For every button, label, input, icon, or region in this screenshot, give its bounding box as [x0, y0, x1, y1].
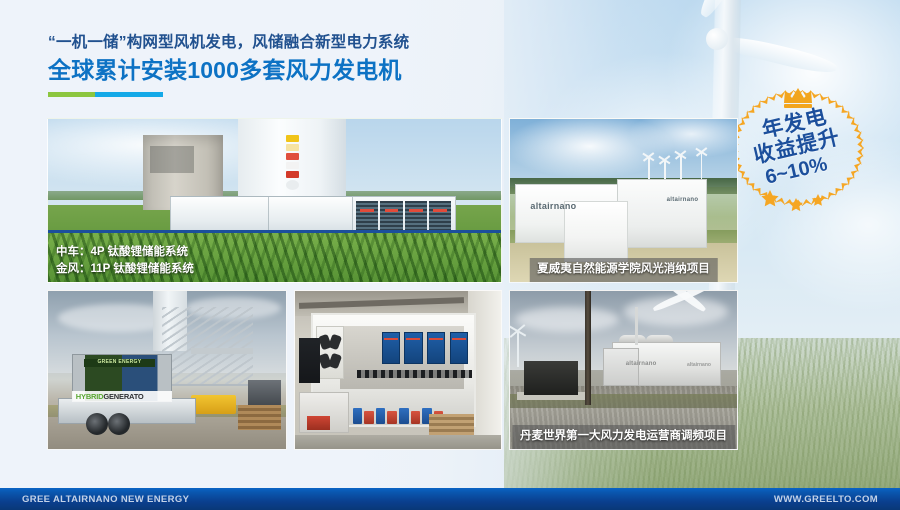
photo1-caption-line-2: 金风：11P 钛酸锂储能系统	[56, 261, 194, 278]
footer-bar: GREE ALTAIRNANO NEW ENERGY WWW.GREELTO.C…	[0, 488, 900, 510]
slide-root: “一机一储”构网型风机发电，风储融合新型电力系统 全球累计安装1000多套风力发…	[0, 0, 900, 510]
photo-hawaii[interactable]: altairnano altairnano 夏威夷自然能源学院风光消纳项目	[509, 118, 738, 283]
photo-hybrid-generator[interactable]: GREEN ENERGY HYBRIDGENERATO	[47, 290, 287, 450]
photo3-wooden-pallet	[238, 405, 281, 430]
photo3-banner-text: GREEN ENERGY	[84, 359, 155, 367]
photo4-wooden-pallet	[429, 414, 474, 436]
photo-grid-row-2: GREEN ENERGY HYBRIDGENERATO	[47, 290, 502, 450]
title-accent-bar	[48, 92, 163, 97]
accent-segment-green	[48, 92, 95, 97]
crown-icon	[784, 88, 812, 108]
photo4-red-sockets	[307, 416, 330, 430]
photo5-roof-vent	[646, 335, 673, 341]
footer-company-name: GREE ALTAIRNANO NEW ENERGY	[22, 494, 189, 505]
photo-cabinet-interior[interactable]	[294, 290, 502, 450]
footer-website[interactable]: WWW.GREELTO.COM	[774, 494, 878, 505]
photo5-wind-turbine	[517, 332, 519, 367]
photo4-cabinet-interior-panel	[340, 326, 464, 389]
photo2-caption: 夏威夷自然能源学院风光消纳项目	[529, 258, 718, 282]
photo1-warning-signs	[286, 135, 299, 192]
photo4-inverter-module	[382, 332, 401, 364]
photo3-skip-bin	[248, 380, 281, 405]
annual-yield-badge: 年发电 收益提升 6~10%	[718, 82, 878, 212]
photo1-caption: 中车：4P 钛酸锂储能系统 金风：11P 钛酸锂储能系统	[48, 241, 202, 283]
photo4-inverter-module	[404, 332, 423, 364]
photo3-trailer-wheel	[108, 413, 130, 435]
photo5-caption: 丹麦世界第一大风力发电运营商调频项目	[512, 425, 735, 449]
slide-header: “一机一储”构网型风机发电，风储融合新型电力系统 全球累计安装1000多套风力发…	[48, 34, 409, 97]
photo2-brand-text-small: altairnano	[667, 197, 699, 203]
accent-segment-blue	[95, 92, 163, 97]
photo3-hybrid-label-text: HYBRIDGENERATO	[72, 392, 144, 401]
photo2-brand-text: altairnano	[530, 201, 576, 211]
photo3-staircase	[162, 307, 252, 386]
photo4-monitor	[299, 338, 320, 382]
slide-subtitle: “一机一储”构网型风机发电，风储融合新型电力系统	[48, 34, 409, 53]
photo3-generator-word: GENERATO	[103, 392, 143, 401]
photo4-inverter-module	[427, 332, 446, 364]
photo3-platform	[191, 348, 253, 354]
photo3-yellow-machine	[191, 395, 236, 414]
page-title: 全球累计安装1000多套风力发电机	[48, 57, 409, 83]
photo5-stack	[635, 307, 638, 345]
footer-fade	[0, 454, 900, 488]
photo5-cloud	[515, 307, 619, 332]
photo4-cable-run	[357, 370, 472, 378]
photo5-dark-container	[524, 361, 578, 396]
photo5-roof-vent	[619, 335, 646, 341]
photo3-trailer-wheel	[86, 413, 108, 435]
photo5-brand-text: altairnano	[626, 361, 657, 367]
badge-stars	[761, 190, 824, 211]
photo2-container-right	[617, 179, 708, 247]
photo3-green-energy-banner: GREEN ENERGY	[84, 359, 155, 367]
photo3-hybrid-label: HYBRIDGENERATO	[72, 391, 172, 402]
photo-crrc-goldwind[interactable]: 中车：4P 钛酸锂储能系统 金风：11P 钛酸锂储能系统	[47, 118, 502, 283]
photo4-floor	[295, 435, 501, 449]
photo4-inverter-module	[450, 332, 469, 364]
photo5-brand-text-small: altairnano	[687, 362, 711, 368]
photo1-caption-line-1: 中车：4P 钛酸锂储能系统	[56, 244, 194, 261]
photo3-hybrid-word: HYBRID	[76, 392, 104, 401]
photo-grid: 中车：4P 钛酸锂储能系统 金风：11P 钛酸锂储能系统 altairnano …	[47, 118, 738, 450]
photo5-plant-annex	[603, 348, 639, 386]
photo5-utility-pole	[585, 290, 591, 405]
photo-denmark[interactable]: altairnano altairnano 丹麦世界第一大风力发电运营商调频项目	[509, 290, 738, 450]
photo4-left-door-panel	[316, 326, 345, 380]
